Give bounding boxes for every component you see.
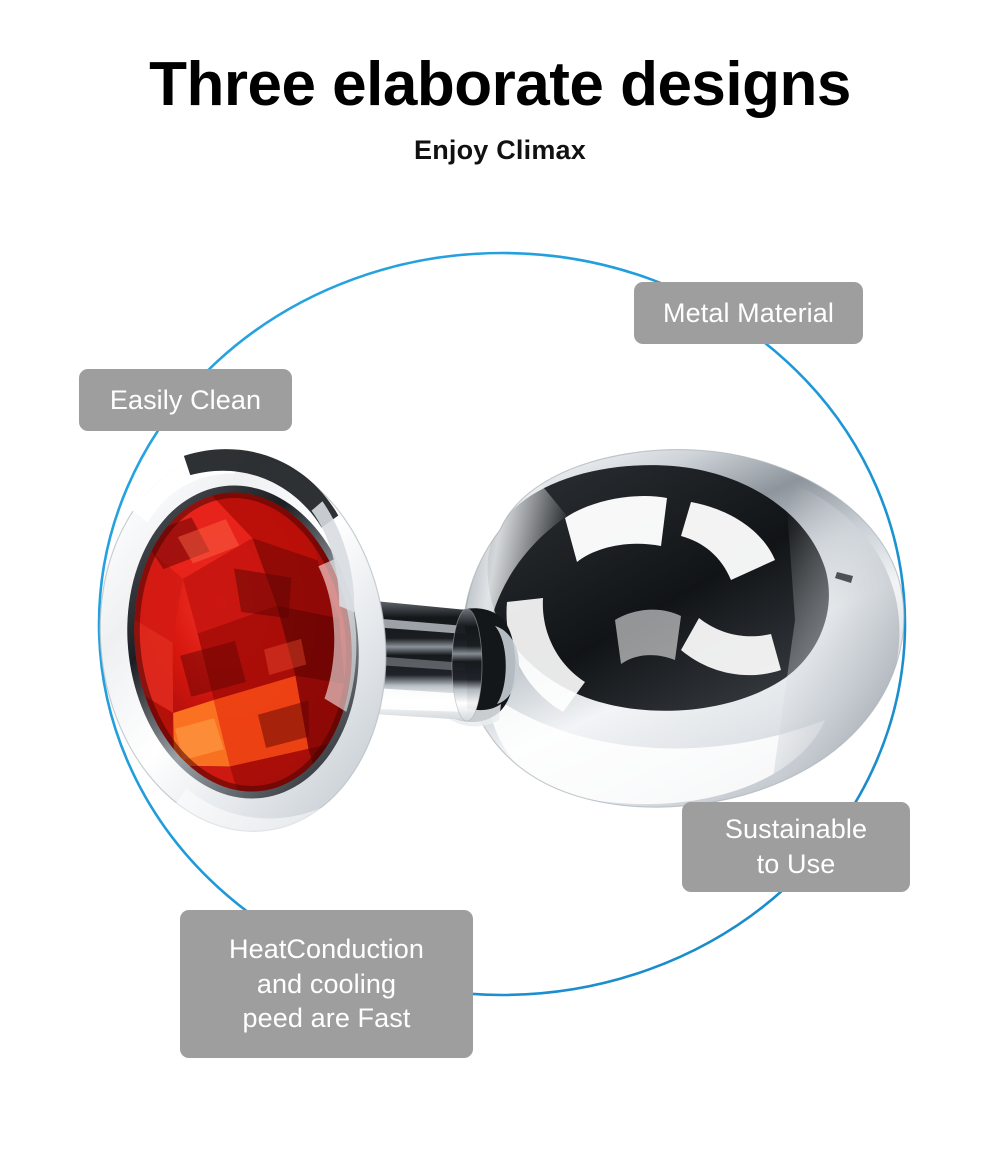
callout-heat-line-1: HeatConduction: [229, 932, 424, 967]
callout-heat-line-3: peed are Fast: [229, 1001, 424, 1036]
page-title: Three elaborate designs: [0, 52, 1000, 117]
product-feature-graphic: Three elaborate designs Enjoy Climax: [0, 0, 1000, 1164]
callout-metal-material: Metal Material: [634, 282, 863, 344]
page-subtitle: Enjoy Climax: [0, 136, 1000, 166]
callout-easily-clean-text: Easily Clean: [110, 383, 261, 418]
callout-sustainable-line-1: Sustainable: [725, 812, 867, 847]
callout-heat-line-2: and cooling: [229, 967, 424, 1002]
callout-metal-material-text: Metal Material: [663, 296, 834, 331]
callout-easily-clean: Easily Clean: [79, 369, 292, 431]
plug-base-bezel: [95, 432, 408, 856]
callout-sustainable-line-2: to Use: [725, 847, 867, 882]
callout-heat-conduction: HeatConduction and cooling peed are Fast: [180, 910, 473, 1058]
callout-sustainable-to-use: Sustainable to Use: [682, 802, 910, 892]
plug-bulb: [462, 450, 903, 808]
